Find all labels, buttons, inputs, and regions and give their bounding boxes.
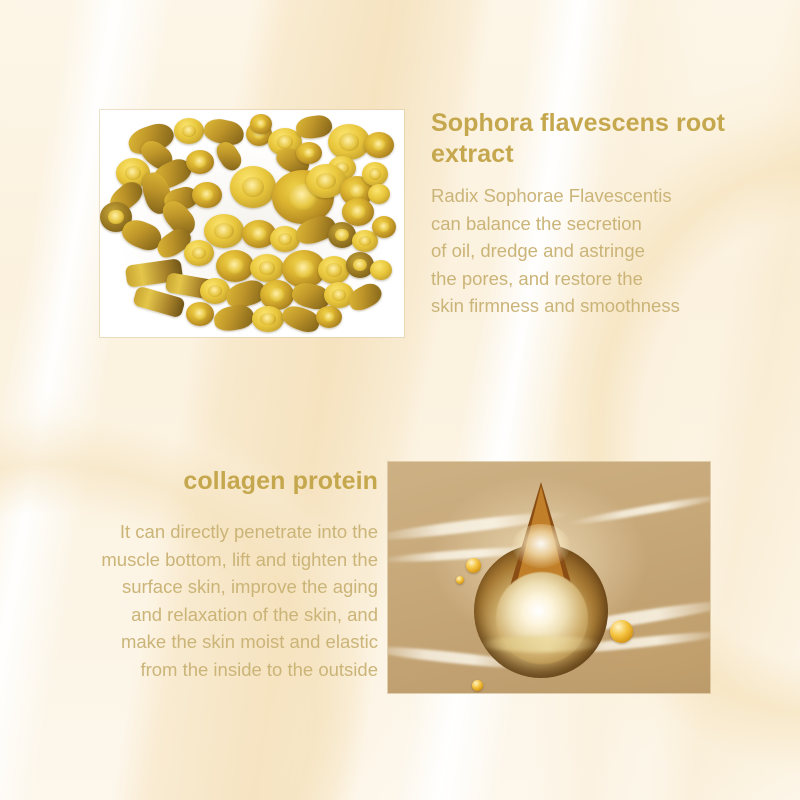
droplet-light-band bbox=[480, 636, 602, 652]
product-info-poster: Sophora flavescens root extract Radix So… bbox=[0, 0, 800, 800]
oil-bubble bbox=[610, 620, 633, 643]
sophora-text-block: Sophora flavescens root extract Radix So… bbox=[431, 108, 731, 320]
droplet-specular-flare bbox=[512, 524, 570, 568]
collagen-text-block: collagen protein It can directly penetra… bbox=[30, 466, 378, 683]
collagen-paragraph: It can directly penetrate into the muscl… bbox=[30, 518, 378, 683]
dried-sophora-root-slices-photo bbox=[100, 110, 404, 337]
oil-bubble bbox=[456, 576, 464, 584]
paragraph-line: of oil, dredge and astringe bbox=[431, 237, 731, 265]
paragraph-line: from the inside to the outside bbox=[30, 656, 378, 684]
oil-droplet bbox=[474, 482, 608, 678]
paragraph-line: make the skin moist and elastic bbox=[30, 628, 378, 656]
paragraph-line: can balance the secretion bbox=[431, 210, 731, 238]
oil-bubble bbox=[472, 680, 483, 691]
paragraph-line: Radix Sophorae Flavescentis bbox=[431, 182, 731, 210]
paragraph-line: the pores, and restore the bbox=[431, 265, 731, 293]
sophora-paragraph: Radix Sophorae Flavescentis can balance … bbox=[431, 182, 731, 320]
collagen-heading: collagen protein bbox=[30, 466, 378, 497]
paragraph-line: It can directly penetrate into the bbox=[30, 518, 378, 546]
golden-oil-droplet-photo bbox=[388, 462, 710, 693]
paragraph-line: surface skin, improve the aging bbox=[30, 573, 378, 601]
oil-bubble bbox=[466, 558, 481, 573]
paragraph-line: skin firmness and smoothness bbox=[431, 292, 731, 320]
paragraph-line: and relaxation of the skin, and bbox=[30, 601, 378, 629]
sophora-heading: Sophora flavescens root extract bbox=[431, 108, 731, 170]
paragraph-line: muscle bottom, lift and tighten the bbox=[30, 546, 378, 574]
